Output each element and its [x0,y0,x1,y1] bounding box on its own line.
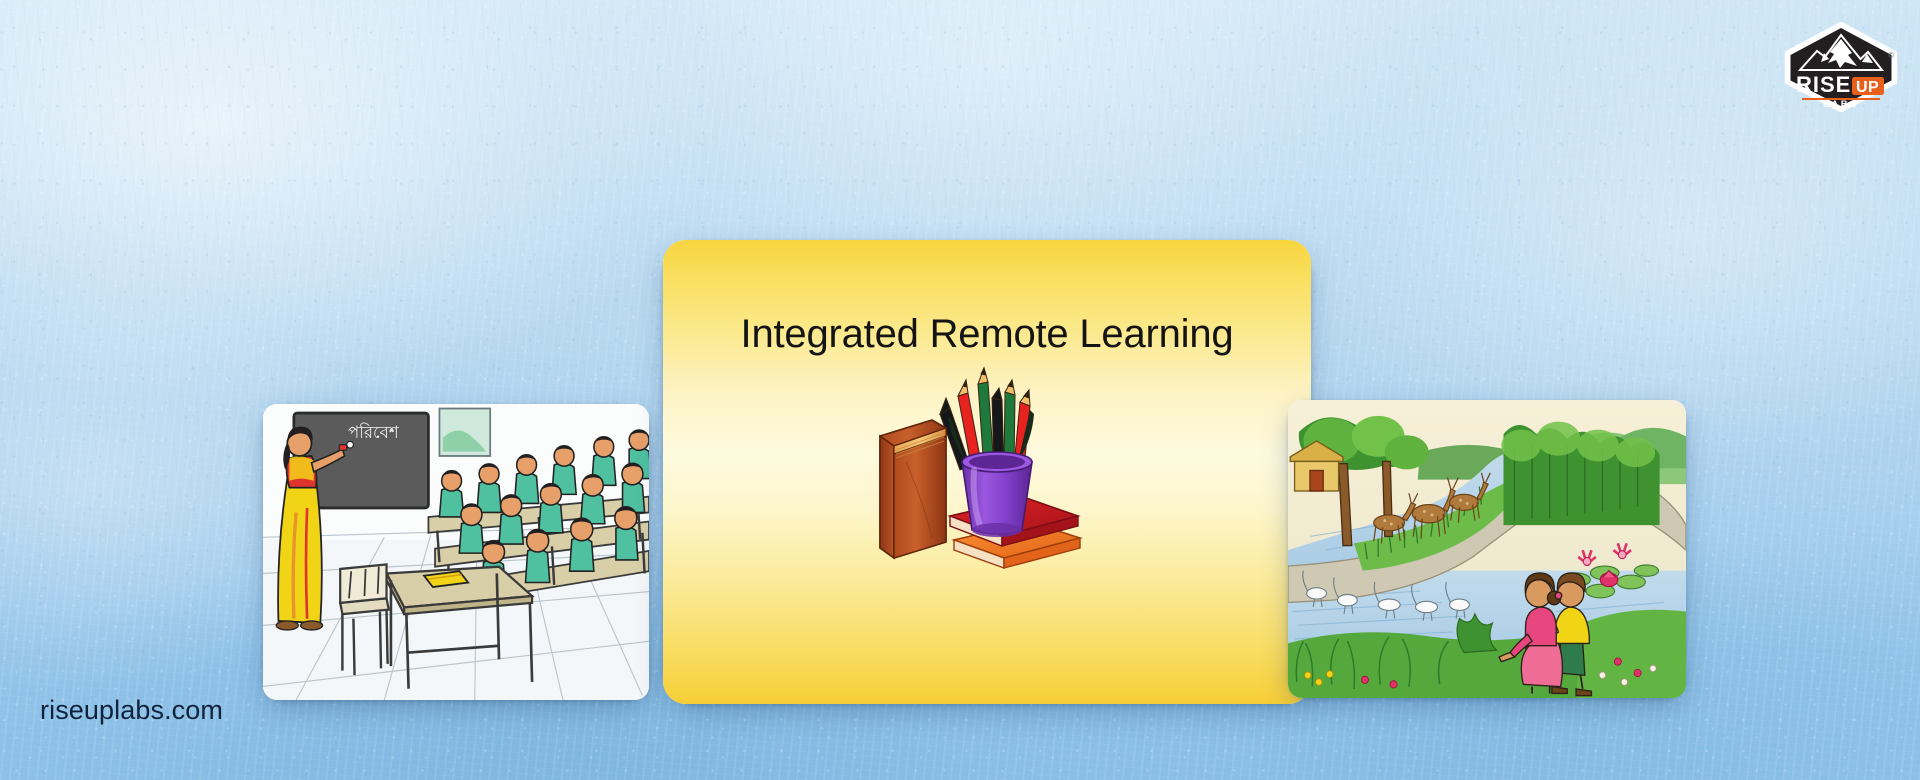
main-tablet[interactable]: Integrated Remote Learning [663,240,1311,704]
purple-pencil-cup [962,452,1032,537]
nature-river-scene-illustration [1288,400,1686,698]
logo-trademark-icon: © [1888,51,1894,60]
left-tablet-screen: পরিবেশ [263,404,649,700]
left-tablet[interactable]: পরিবেশ [263,404,649,700]
standing-brown-book [880,420,946,558]
footer-website-url[interactable]: riseuplabs.com [40,695,223,726]
right-tablet-screen [1288,400,1686,698]
poster-canvas: RISE UP LABS © [0,0,1920,780]
riseup-labs-logo[interactable]: RISE UP LABS © [1782,22,1900,112]
right-tablet[interactable] [1288,400,1686,698]
classroom-scene-illustration: পরিবেশ [263,404,649,700]
logo-text-up: UP [1856,79,1879,96]
main-tablet-screen: Integrated Remote Learning [663,240,1311,704]
page-title: Integrated Remote Learning [663,312,1311,357]
bangle [339,445,347,451]
blackboard-text: পরিবেশ [348,422,400,442]
logo-text-labs: LABS [1823,99,1859,110]
chalk [347,441,354,448]
logo-text-rise: RISE [1796,72,1851,97]
books-and-pencil-cup-illustration [862,358,1112,578]
